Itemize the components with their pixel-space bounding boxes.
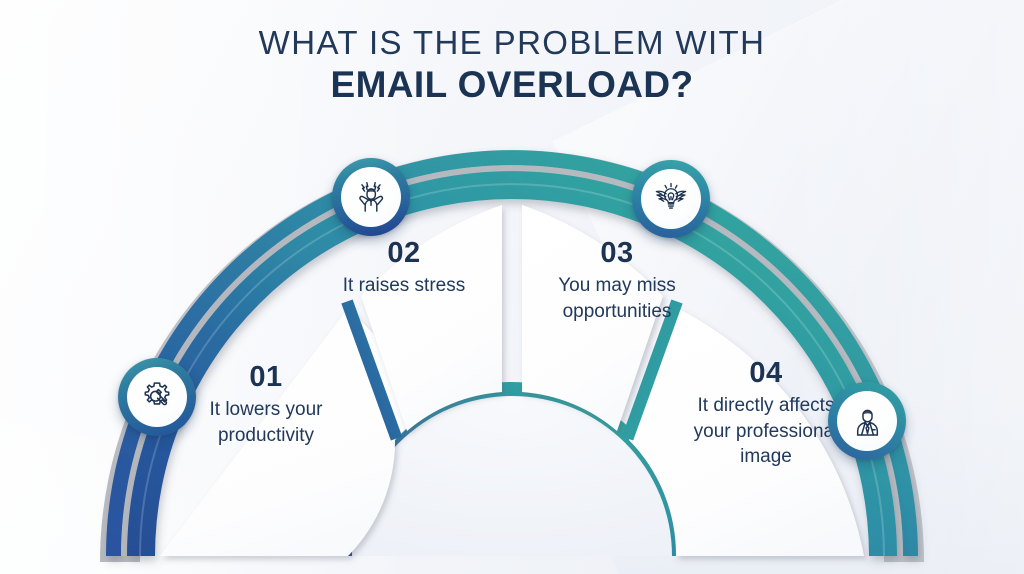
icon-badge-03[interactable] xyxy=(632,160,710,238)
icon-badge-04-inner xyxy=(837,391,897,451)
icon-badge-03-inner xyxy=(641,169,701,229)
page-title: WHAT IS THE PROBLEM WITH EMAIL OVERLOAD? xyxy=(0,24,1024,107)
icon-badge-01-inner xyxy=(127,367,187,427)
icon-badge-02[interactable] xyxy=(332,158,410,236)
winged-lightbulb-icon xyxy=(651,179,691,219)
gear-wrench-icon xyxy=(139,379,175,415)
icon-badge-01[interactable] xyxy=(118,358,196,436)
title-line-light: WHAT IS THE PROBLEM WITH xyxy=(0,24,1024,62)
businessman-icon xyxy=(849,403,886,440)
icon-badge-04[interactable] xyxy=(828,382,906,460)
infographic-canvas: WHAT IS THE PROBLEM WITH EMAIL OVERLOAD? xyxy=(0,0,1024,574)
icon-badge-02-inner xyxy=(341,167,401,227)
stressed-head-icon xyxy=(352,178,390,216)
title-line-bold: EMAIL OVERLOAD? xyxy=(0,64,1024,107)
